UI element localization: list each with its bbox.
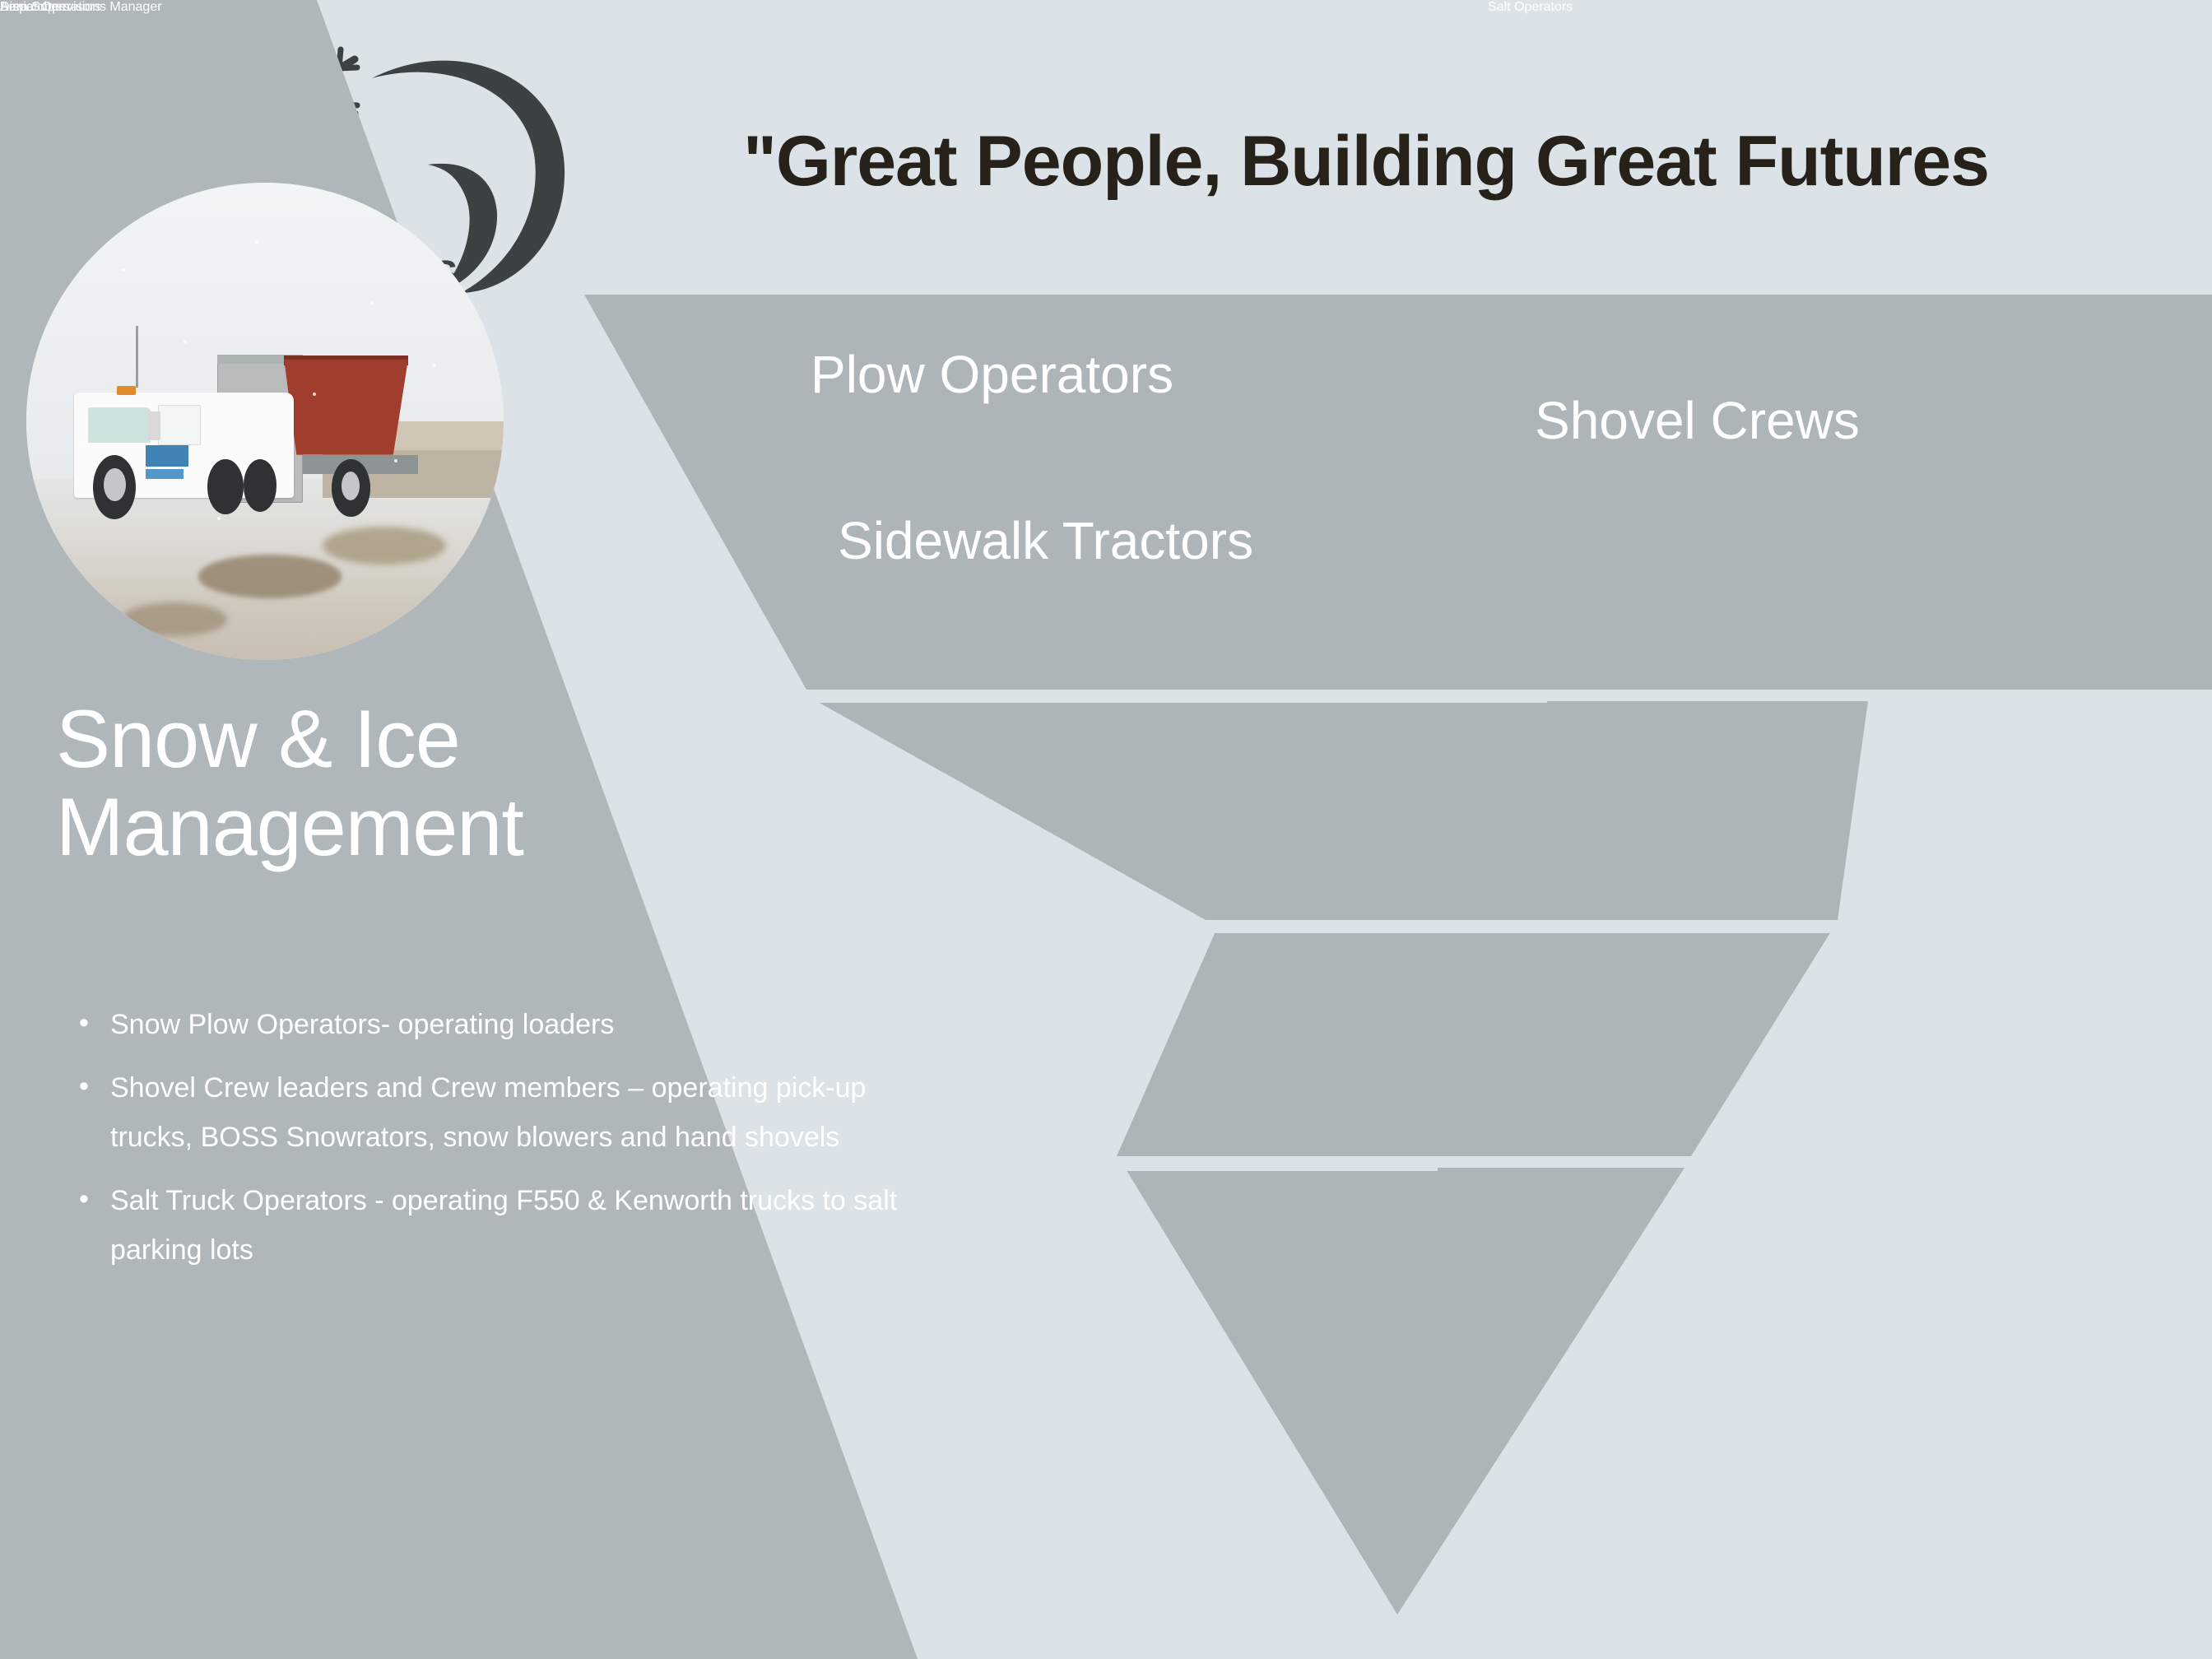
list-item: Snow Plow Operators- operating loaders [64, 1000, 904, 1050]
funnel-label-plow-operators: Plow Operators [811, 344, 1173, 405]
funnel-tier-management [1125, 1168, 1685, 1615]
funnel-label-shovel-crews: Shovel Crews [1535, 390, 1860, 451]
list-item: Shovel Crew leaders and Crew members – o… [64, 1063, 904, 1163]
slide-canvas: "Great People, Building Great Futures Sn… [0, 0, 2212, 1659]
funnel-tier-supervisors-right-trim [1838, 701, 2212, 920]
funnel-tier-dispatch [1117, 932, 1831, 1156]
funnel-label-senior-operations-manager: Senior Operations Manager [0, 0, 162, 15]
funnel-separator-1 [806, 690, 1547, 703]
funnel-label-sidewalk-tractors: Sidewalk Tractors [838, 510, 1253, 571]
funnel-separator-3 [1117, 1156, 1438, 1171]
funnel-tier-supervisors [816, 701, 2212, 920]
slide-headline: "Great People, Building Great Futures [625, 123, 2107, 200]
funnel-label-salt-operators: Salt Operators [1488, 0, 1573, 15]
funnel-separator-2 [1206, 920, 1838, 933]
list-item: Salt Truck Operators - operating F550 & … [64, 1176, 904, 1276]
responsibilities-list: Snow Plow Operators- operating loaders S… [64, 1000, 904, 1289]
salt-truck-photo [26, 183, 504, 660]
section-title: Snow & Ice Management [56, 695, 731, 871]
